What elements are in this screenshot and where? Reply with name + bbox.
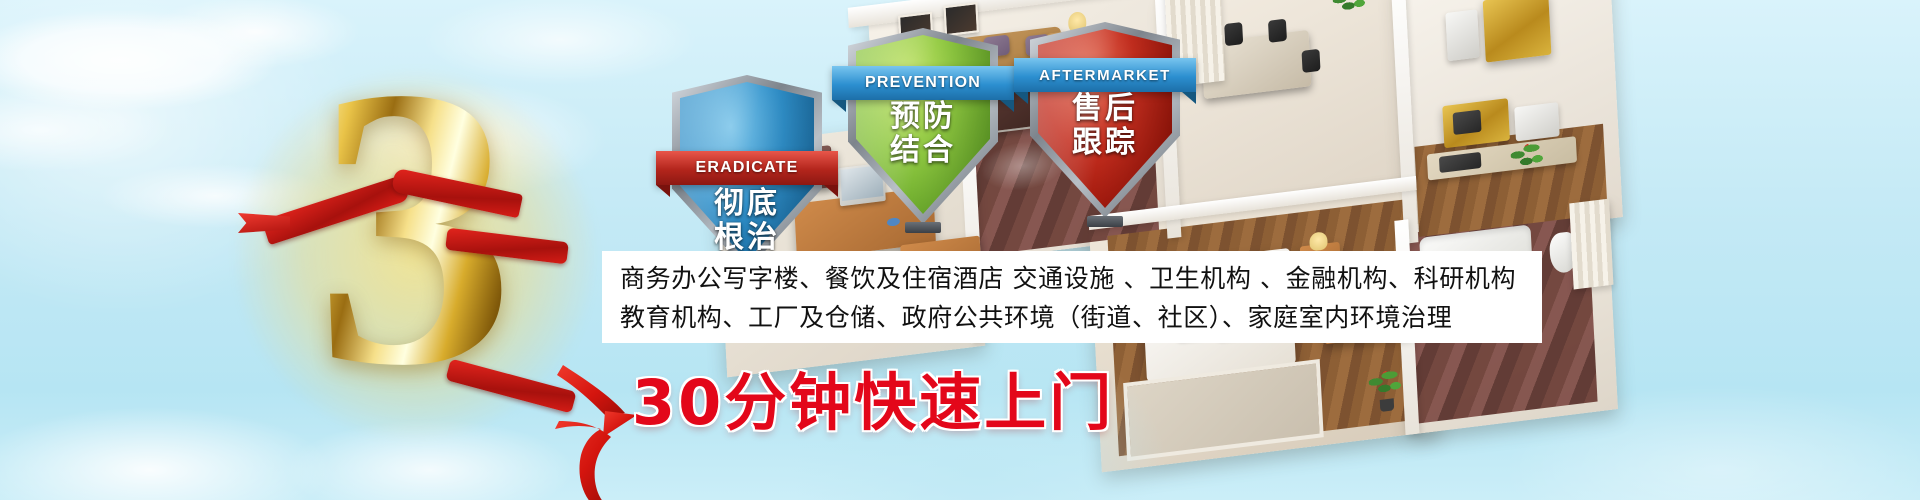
curtain-bathroom bbox=[1569, 199, 1613, 290]
shield-band-label: PREVENTION bbox=[865, 74, 981, 92]
shield-badge-eradicate: ERADICATE 彻底 根治 bbox=[672, 75, 822, 271]
shield-chinese-text-aftermarket: 售后 跟踪 bbox=[1030, 92, 1180, 159]
kitchen-range-hood bbox=[1445, 9, 1479, 61]
shield-cn-line-2: 跟踪 bbox=[1030, 126, 1180, 160]
headline-30-minute-arrival: 30分钟快速上门 bbox=[632, 352, 1114, 442]
shield-cn-line-1: 预防 bbox=[848, 100, 998, 134]
shield-badge-aftermarket: AFTERMARKET 售后 跟踪 bbox=[1030, 22, 1180, 218]
kitchen-upper-cabinet bbox=[1483, 0, 1552, 63]
kitchen-oven bbox=[1453, 110, 1482, 135]
service-scope-line-2: 教育机构、工厂及仓储、政府公共环境（街道、社区）、家庭室内环境治理 bbox=[620, 298, 1524, 337]
shield-band-aftermarket: AFTERMARKET bbox=[1014, 58, 1196, 92]
plant-pot-bedroom bbox=[1380, 398, 1395, 412]
hero-number-3: 3 bbox=[250, 85, 580, 425]
shield-cn-line-1: 彻底 bbox=[672, 187, 822, 221]
shield-band-label: AFTERMARKET bbox=[1039, 67, 1171, 84]
shield-badge-prevention: PREVENTION 预防 结合 bbox=[848, 28, 998, 224]
dining-chair-4 bbox=[1302, 49, 1321, 73]
shield-band-label: ERADICATE bbox=[696, 159, 799, 177]
dining-chair-3 bbox=[1268, 19, 1287, 43]
shield-chinese-text-prevention: 预防 结合 bbox=[848, 100, 998, 167]
shield-band-prevention: PREVENTION bbox=[832, 66, 1014, 100]
shield-stand bbox=[1087, 216, 1123, 227]
plant-bedroom bbox=[1368, 365, 1404, 403]
kitchen-sink bbox=[1514, 102, 1559, 141]
shield-band-eradicate: ERADICATE bbox=[656, 151, 838, 185]
shield-chinese-text-eradicate: 彻底 根治 bbox=[672, 187, 822, 254]
shield-cn-line-2: 结合 bbox=[848, 134, 998, 168]
shield-cn-line-1: 售后 bbox=[1030, 92, 1180, 126]
service-scope-panel: 商务办公写字楼、餐饮及住宿酒店 交通设施 、卫生机构 、金融机构、科研机构 教育… bbox=[602, 251, 1542, 343]
service-scope-line-1: 商务办公写字楼、餐饮及住宿酒店 交通设施 、卫生机构 、金融机构、科研机构 bbox=[620, 259, 1524, 298]
shield-stand bbox=[905, 222, 941, 233]
promo-banner: 3 ERADICATE bbox=[0, 0, 1920, 500]
plant-kitchen bbox=[1510, 138, 1546, 176]
shield-cn-line-2: 根治 bbox=[672, 221, 822, 255]
dining-chair-2 bbox=[1224, 22, 1243, 46]
